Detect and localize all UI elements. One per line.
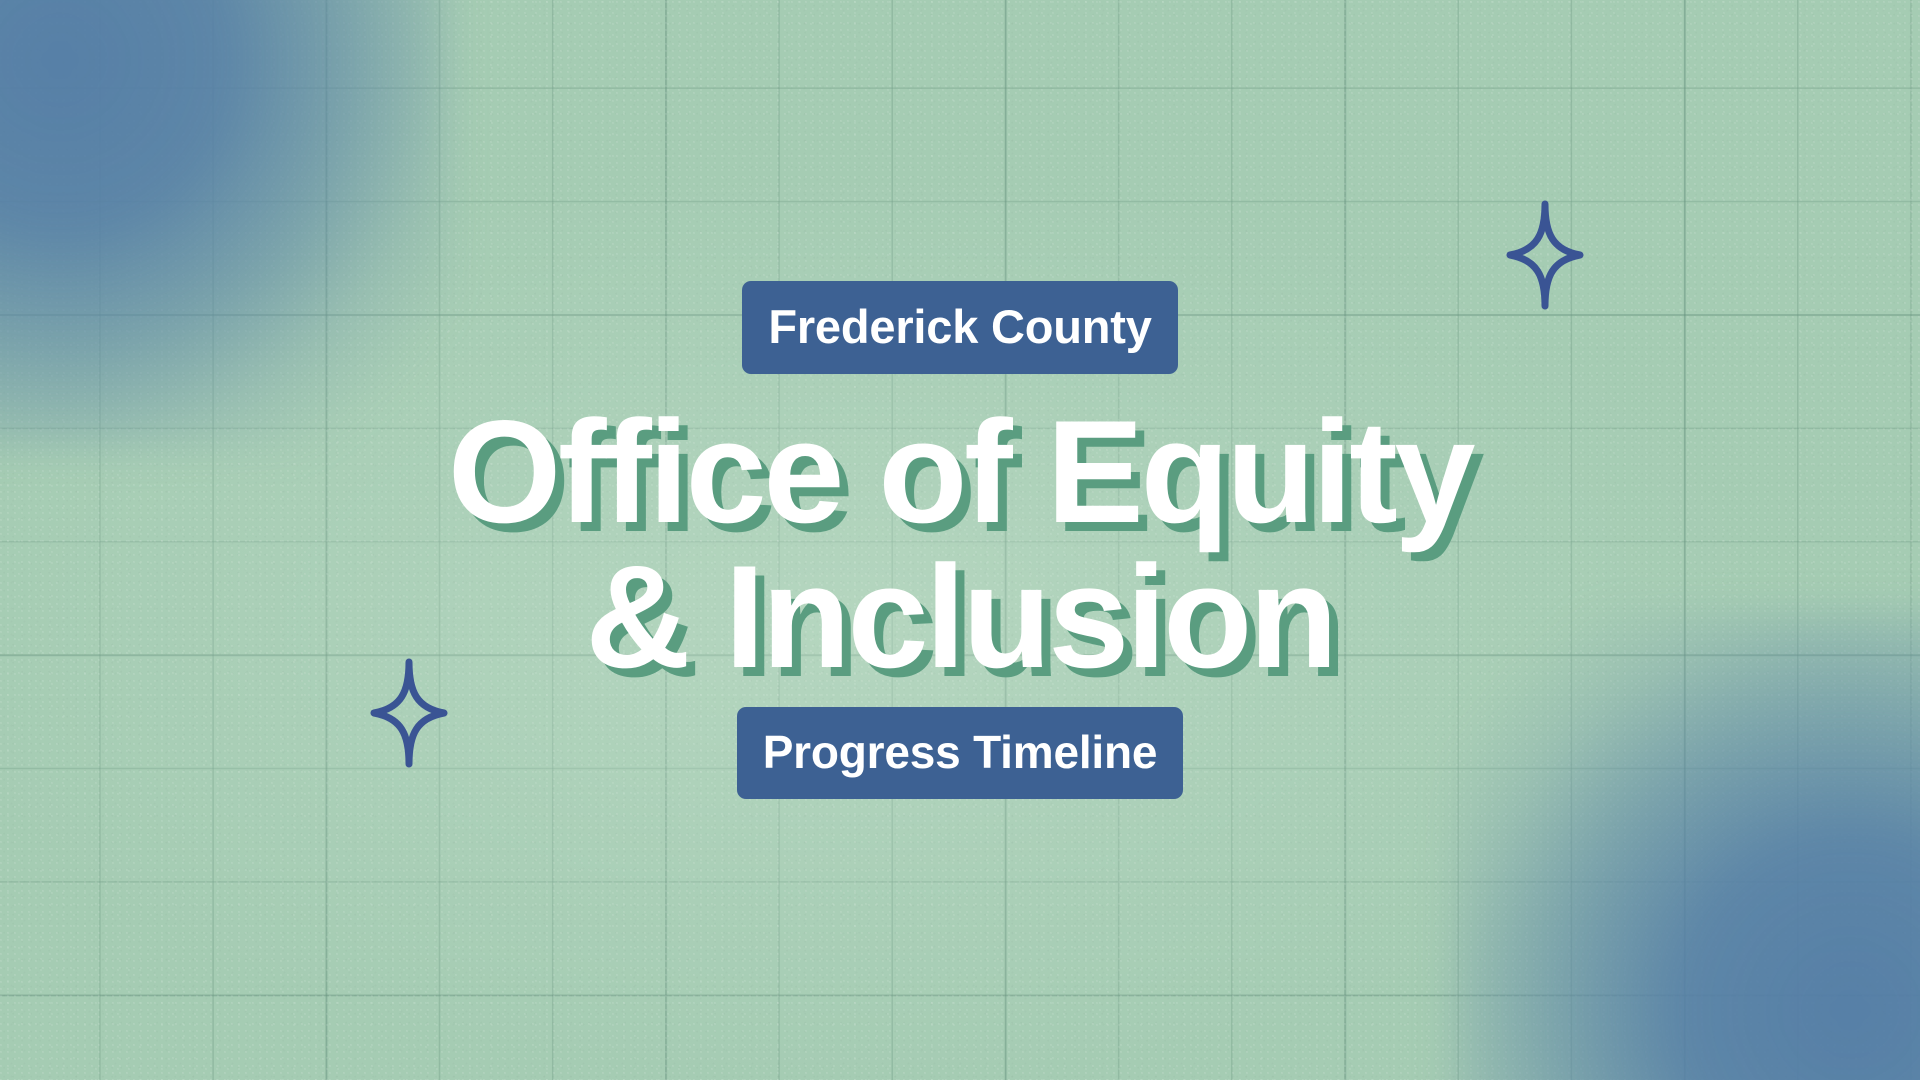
subtitle-badge: Progress Timeline xyxy=(737,707,1184,799)
slide-content: Frederick County Office of Equity & Incl… xyxy=(0,0,1920,1080)
page-title-line-1: Office of Equity xyxy=(448,400,1472,545)
title-slide: Frederick County Office of Equity & Incl… xyxy=(0,0,1920,1080)
page-title: Office of Equity & Inclusion xyxy=(448,400,1472,689)
page-title-line-2: & Inclusion xyxy=(448,545,1472,690)
organization-badge: Frederick County xyxy=(742,281,1177,374)
